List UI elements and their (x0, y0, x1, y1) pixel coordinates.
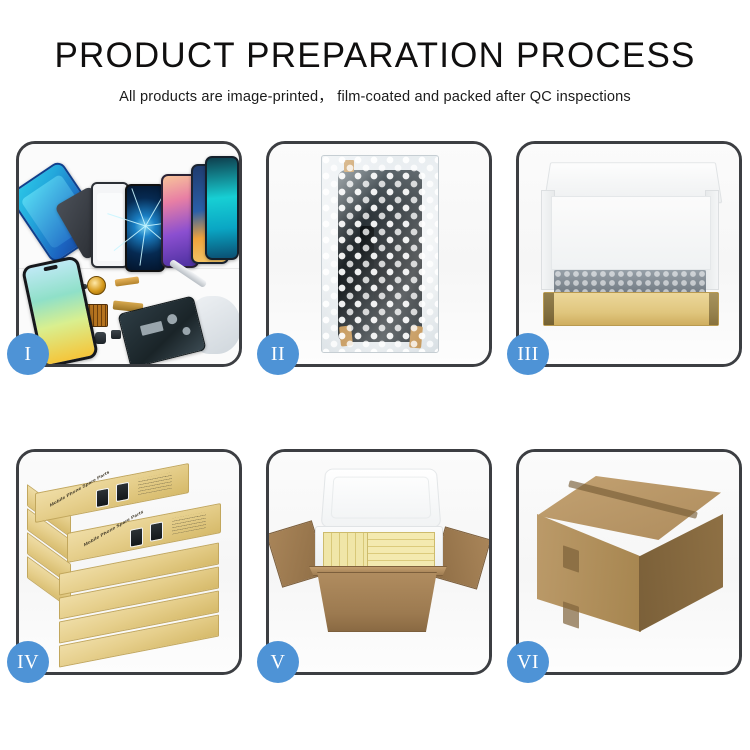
bubble-wrap-bag (321, 155, 439, 353)
plastic-sheen (322, 156, 438, 352)
white-frame-screen-icon (91, 182, 129, 268)
foam-box-in-carton-photo (269, 452, 489, 672)
step-badge-4: IV (7, 641, 49, 683)
infographic-page: PRODUCT PREPARATION PROCESS All products… (0, 0, 750, 750)
header: PRODUCT PREPARATION PROCESS All products… (0, 0, 750, 106)
step-badge-6: VI (507, 641, 549, 683)
process-step-grid: I II (16, 141, 738, 675)
process-step-panel-4[interactable]: Mobile Phone Spare Parts Mobile Phone Sp… (16, 449, 242, 675)
step-badge-2: II (257, 333, 299, 375)
flex-cable-part-icon (115, 276, 140, 286)
page-subtitle: All products are image-printed， film-coa… (0, 85, 750, 106)
teal-gradient-phone-icon (205, 156, 239, 260)
box-phone-graphic (116, 482, 129, 503)
process-step-panel-1[interactable]: I (16, 141, 242, 367)
carton-tape-strip (563, 601, 579, 629)
process-step-panel-2[interactable]: II (266, 141, 492, 367)
box-stack: Mobile Phone Spare Parts Mobile Phone Sp… (25, 472, 237, 658)
step-badge-3: III (507, 333, 549, 375)
copper-coil-part-icon (87, 276, 106, 295)
packed-kraft-boxes (367, 532, 435, 568)
stacked-kraft-boxes-photo: Mobile Phone Spare Parts Mobile Phone Sp… (19, 452, 239, 672)
small-component-icon (95, 332, 106, 344)
box-feature-list (138, 472, 172, 495)
process-step-panel-3[interactable]: III (516, 141, 742, 367)
bubble-wrapped-screen-photo (269, 144, 489, 364)
foam-lined-kraft-box-photo (519, 144, 739, 364)
box-phone-graphic (150, 521, 163, 542)
phone-screens-and-parts-photo (19, 144, 239, 364)
cracked-display-icon (125, 184, 165, 272)
box-feature-list (172, 512, 206, 535)
page-title: PRODUCT PREPARATION PROCESS (0, 38, 750, 75)
process-step-panel-5[interactable]: V (266, 449, 492, 675)
process-step-panel-6[interactable]: VI (516, 449, 742, 675)
carton-front-panel (309, 572, 445, 632)
step-badge-1: I (7, 333, 49, 375)
foam-box-lid (321, 469, 442, 528)
box-phone-graphic (96, 488, 109, 509)
sealed-shipping-carton-photo (519, 452, 739, 672)
white-foam-liner (551, 196, 711, 270)
step-badge-5: V (257, 641, 299, 683)
small-component-icon (111, 330, 121, 339)
kraft-box-body (543, 292, 719, 326)
box-phone-graphic (130, 527, 143, 548)
